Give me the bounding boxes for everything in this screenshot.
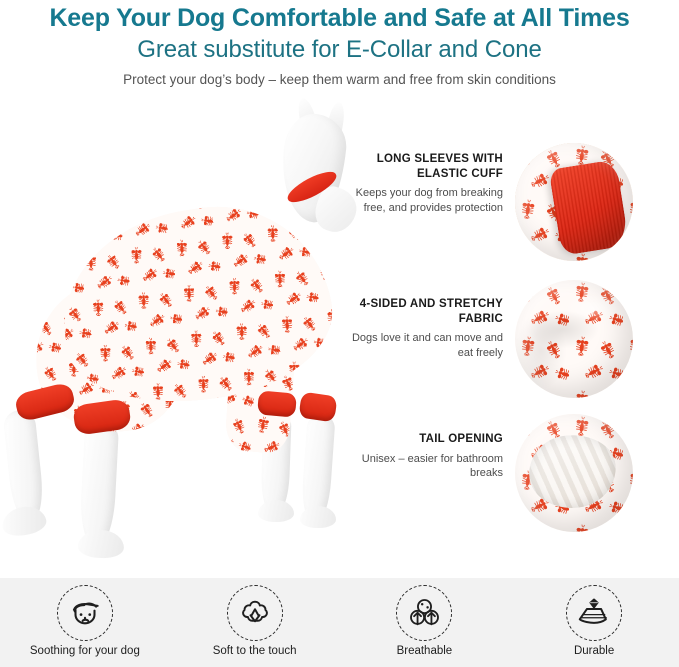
page-subtitle: Great substitute for E-Collar and Cone — [0, 35, 679, 64]
dog-paw-3 — [258, 500, 294, 522]
benefit-breathable: Breathable — [340, 578, 510, 658]
callout-body: Dogs love it and can move and eat freely — [348, 331, 503, 360]
detail-photo-inner — [515, 280, 633, 398]
dog-leg-back-right — [300, 413, 335, 521]
garment-cuff-back-left — [257, 390, 297, 417]
benefit-soothing: Soothing for your dog — [0, 578, 170, 658]
header: Keep Your Dog Comfortable and Safe at Al… — [0, 0, 679, 92]
photo-vignette — [515, 143, 633, 261]
detail-photo-stretchy-fabric — [515, 280, 633, 398]
benefits-strip: Soothing for your dog Soft to the touch — [0, 578, 679, 667]
hero-product-photo — [0, 92, 350, 578]
dog-paw-4 — [300, 506, 336, 528]
benefit-label: Soft to the touch — [170, 644, 340, 658]
callout-tail-opening: TAIL OPENING Unisex – easier for bathroo… — [348, 432, 503, 481]
dog-paw-2 — [78, 529, 125, 559]
detail-photo-inner — [515, 414, 633, 532]
garment-cuff-back-right — [298, 392, 337, 423]
callout-body: Keeps your dog from breaking free, and p… — [348, 186, 503, 215]
callout-heading: LONG SLEEVES WITH ELASTIC CUFF — [348, 152, 503, 181]
callout-long-sleeves: LONG SLEEVES WITH ELASTIC CUFF Keeps you… — [348, 152, 503, 215]
fabric-diamond-icon — [566, 585, 622, 641]
photo-vignette — [515, 280, 633, 398]
benefit-soft: Soft to the touch — [170, 578, 340, 658]
benefit-label: Breathable — [340, 644, 510, 658]
dog-mannequin — [0, 92, 350, 578]
lobster-print-pattern — [49, 190, 343, 420]
dog-paw-1 — [0, 503, 48, 538]
callout-heading: 4-SIDED AND STRETCHY FABRIC — [348, 297, 503, 326]
photo-vignette — [515, 414, 633, 532]
detail-photo-tail-opening — [515, 414, 633, 532]
dog-leg-front-right — [79, 421, 119, 545]
benefit-label: Soothing for your dog — [0, 644, 170, 658]
callout-body: Unisex – easier for bathroom breaks — [348, 452, 503, 481]
benefit-durable: Durable — [509, 578, 679, 658]
breathable-arrows-icon — [396, 585, 452, 641]
detail-photo-inner — [515, 143, 633, 261]
dog-leg-front-left — [2, 409, 45, 522]
benefit-label: Durable — [509, 644, 679, 658]
garment-torso — [49, 190, 343, 420]
page-tagline: Protect your dog’s body – keep them warm… — [0, 71, 679, 89]
page-title: Keep Your Dog Comfortable and Safe at Al… — [0, 0, 679, 34]
dog-face-petting-icon — [57, 585, 113, 641]
callout-stretchy-fabric: 4-SIDED AND STRETCHY FABRIC Dogs love it… — [348, 297, 503, 360]
product-infographic: Keep Your Dog Comfortable and Safe at Al… — [0, 0, 679, 667]
detail-photo-elastic-cuff — [515, 143, 633, 261]
cotton-boll-icon — [227, 585, 283, 641]
callout-heading: TAIL OPENING — [348, 432, 503, 447]
